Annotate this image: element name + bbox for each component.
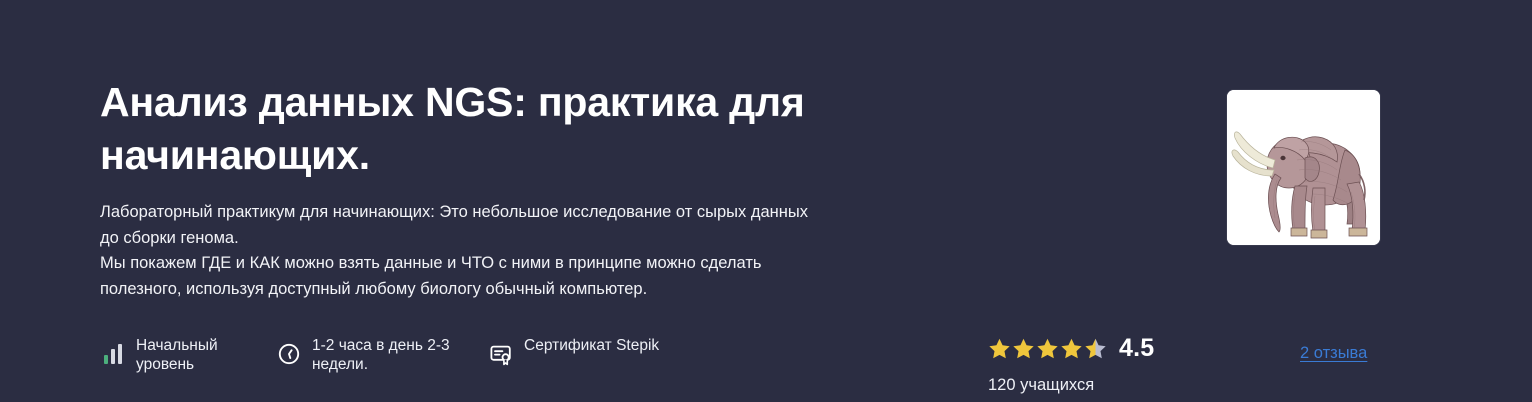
meta-duration-label: 1-2 часа в день 2-3 недели. <box>312 336 462 374</box>
course-meta-row: Начальный уровень 1-2 часа в день 2-3 не… <box>100 336 688 374</box>
star-icon-1 <box>988 337 1011 360</box>
meta-item-certificate: Сертификат Stepik <box>488 336 688 367</box>
learners-count: 120 учащихся <box>988 375 1288 395</box>
meta-level-label: Начальный уровень <box>136 336 276 374</box>
rating-stars-line: 4.5 <box>988 336 1288 361</box>
rating-value: 4.5 <box>1119 336 1154 361</box>
course-header-banner: Анализ данных NGS: практика для начинающ… <box>0 0 1532 402</box>
meta-item-level: Начальный уровень <box>100 336 276 374</box>
clock-icon <box>276 341 302 367</box>
signal-bars-icon <box>100 341 126 367</box>
star-icon-4 <box>1060 337 1083 360</box>
description-line-2: до сборки генома. <box>100 226 910 252</box>
course-title: Анализ данных NGS: практика для начинающ… <box>100 76 890 182</box>
course-description: Лабораторный практикум для начинающих: Э… <box>100 200 910 302</box>
course-cover-image[interactable] <box>1227 90 1380 245</box>
description-line-1: Лабораторный практикум для начинающих: Э… <box>100 200 910 226</box>
description-line-4: полезного, используя доступный любому би… <box>100 277 910 303</box>
star-icon-2 <box>1012 337 1035 360</box>
meta-certificate-label: Сертификат Stepik <box>524 336 659 355</box>
star-icon-3 <box>1036 337 1059 360</box>
certificate-icon <box>488 341 514 367</box>
rating-block: 4.5 120 учащихся <box>988 336 1288 395</box>
course-info-column: Анализ данных NGS: практика для начинающ… <box>100 0 920 402</box>
reviews-link[interactable]: 2 отзыва <box>1300 344 1367 363</box>
meta-item-duration: 1-2 часа в день 2-3 недели. <box>276 336 488 374</box>
star-rating <box>988 337 1107 360</box>
description-line-3: Мы покажем ГДЕ и КАК можно взять данные … <box>100 251 910 277</box>
star-icon-5-half <box>1084 337 1107 360</box>
